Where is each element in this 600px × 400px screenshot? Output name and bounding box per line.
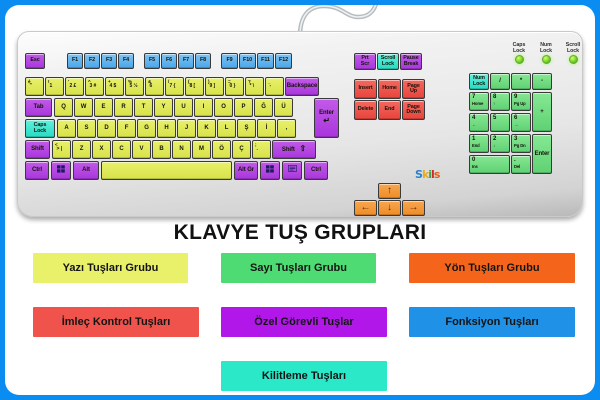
key-z[interactable]: Z bbox=[72, 140, 91, 159]
key-f5-label: F5 bbox=[149, 58, 155, 64]
key-pause-break-label: Pause Break bbox=[403, 56, 418, 67]
key-2-lower: 2 £ bbox=[68, 84, 82, 90]
key-numpad-9-lower: Pg Up bbox=[514, 101, 530, 106]
key-num-lock[interactable]: Num Lock bbox=[469, 73, 489, 90]
key-numpad-1[interactable]: 1End bbox=[469, 134, 489, 153]
key-home[interactable]: Home bbox=[378, 79, 401, 99]
key-arrow-down[interactable]: ↓ bbox=[378, 200, 401, 216]
key-numpad-6-upper: 6 bbox=[514, 115, 530, 122]
key-s-label: S bbox=[85, 125, 89, 131]
key-v[interactable]: V bbox=[132, 140, 151, 159]
key-dash-lower: - bbox=[268, 84, 282, 90]
key-n-label: N bbox=[179, 146, 183, 152]
caps-lock-led: Caps Lock bbox=[507, 43, 531, 64]
key-enter-main[interactable]: Enter↵ bbox=[314, 98, 339, 138]
key-arrow-left[interactable]: ← bbox=[354, 200, 377, 216]
key-i-dot-label: İ bbox=[266, 125, 268, 131]
key-3[interactable]: ^3 # bbox=[85, 77, 104, 96]
key-4[interactable]: +4 $ bbox=[105, 77, 124, 96]
key-numpad-8-lower: ↑ bbox=[493, 101, 509, 106]
key-numpad-divide[interactable]: / bbox=[490, 73, 510, 90]
legend-fonksiyon-label: Fonksiyon Tuşları bbox=[445, 316, 538, 328]
keyboard-keys: EscF1F2F3F4F5F6F7F8F9F10F11F12é"!1'2 £^3… bbox=[17, 31, 583, 217]
key-star-lower: * \ bbox=[248, 84, 262, 90]
key-5-lower: 5 ½ bbox=[128, 84, 142, 90]
key-7[interactable]: /7 { bbox=[165, 77, 184, 96]
key-5[interactable]: %5 ½ bbox=[125, 77, 144, 96]
key-scroll-lock[interactable]: Scroll Lock bbox=[377, 53, 399, 70]
key-caps-lock-label: Caps Lock bbox=[34, 123, 47, 134]
key-angle-lower: > | bbox=[55, 147, 69, 153]
key-f2-label: F2 bbox=[89, 58, 95, 64]
windows-icon bbox=[266, 165, 274, 176]
key-star[interactable]: ?* \ bbox=[245, 77, 264, 96]
key-h[interactable]: H bbox=[157, 119, 176, 138]
key-scroll-lock-label: Scroll Lock bbox=[381, 56, 395, 67]
key-m[interactable]: M bbox=[192, 140, 211, 159]
key-numpad-9[interactable]: 9Pg Up bbox=[511, 92, 531, 111]
key-numpad-4-lower: ← bbox=[472, 122, 488, 127]
key-numpad-1-lower: End bbox=[472, 143, 488, 148]
key-w-label: W bbox=[81, 104, 87, 110]
key-o[interactable]: O bbox=[214, 98, 233, 117]
key-f7[interactable]: F7 bbox=[178, 53, 194, 69]
key-page-down-label: Page Down bbox=[406, 105, 420, 116]
key-enter-main-label: Enter↵ bbox=[319, 110, 334, 125]
key-f-label: F bbox=[125, 125, 129, 131]
key-numpad-0[interactable]: 0Ins bbox=[469, 155, 510, 174]
key-alt-gr[interactable]: Alt Gr bbox=[234, 161, 258, 180]
key-p-label: P bbox=[242, 104, 246, 110]
key-numpad-8[interactable]: 8↑ bbox=[490, 92, 510, 111]
keyboard-illustration: EscF1F2F3F4F5F6F7F8F9F10F11F12é"!1'2 £^3… bbox=[5, 5, 595, 219]
scroll-lock-led: Scroll Lock bbox=[561, 43, 585, 64]
key-arrow-right-label: → bbox=[409, 203, 419, 213]
key-numpad-7[interactable]: 7Home bbox=[469, 92, 489, 111]
key-q-label: Q bbox=[61, 104, 66, 110]
key-numpad-minus-label: - bbox=[541, 78, 543, 84]
key-v-label: V bbox=[140, 146, 144, 152]
key-pause-break[interactable]: Pause Break bbox=[400, 53, 422, 70]
key-j[interactable]: J bbox=[177, 119, 196, 138]
key-numpad-plus[interactable]: + bbox=[532, 92, 552, 132]
key-r-label: R bbox=[121, 104, 125, 110]
key-t[interactable]: T bbox=[134, 98, 153, 117]
key-comma-alt-label: , bbox=[286, 125, 288, 131]
key-arrow-up[interactable]: ↑ bbox=[378, 183, 401, 199]
key-u-umlaut[interactable]: Ü bbox=[274, 98, 293, 117]
key-period[interactable]: ;. bbox=[252, 140, 271, 159]
key-numpad-0-upper: 0 bbox=[472, 157, 509, 164]
page-root: EscF1F2F3F4F5F6F7F8F9F10F11F12é"!1'2 £^3… bbox=[0, 0, 600, 400]
brand-watermark-icon: Skils bbox=[415, 168, 467, 182]
key-b-label: B bbox=[159, 146, 163, 152]
key-tab[interactable]: Tab bbox=[25, 98, 52, 117]
key-shift-left-label: Shift bbox=[31, 146, 44, 152]
page-title: KLAVYE TUŞ GRUPLARI bbox=[5, 221, 595, 245]
legend-yazi[interactable]: Yazı Tuşları Grubu bbox=[33, 253, 188, 283]
key-ctrl-left-label: Ctrl bbox=[32, 167, 42, 173]
key-backspace[interactable]: Backspace bbox=[285, 77, 319, 96]
key-s-cedilla[interactable]: Ş bbox=[237, 119, 256, 138]
key-o-umlaut[interactable]: Ö bbox=[212, 140, 231, 159]
key-end[interactable]: End bbox=[378, 100, 401, 120]
key-esc-label: Esc bbox=[30, 58, 39, 64]
key-f9[interactable]: F9 bbox=[221, 53, 238, 69]
key-8-lower: 8 [ bbox=[188, 84, 202, 90]
key-f10-label: F10 bbox=[243, 58, 252, 64]
key-l-label: L bbox=[225, 125, 229, 131]
legend-group: Yazı Tuşları Grubu Sayı Tuşları Grubu Yö… bbox=[5, 253, 595, 389]
key-numpad-decimal[interactable]: .Del bbox=[511, 155, 531, 174]
key-f7-label: F7 bbox=[183, 58, 189, 64]
key-numpad-9-upper: 9 bbox=[514, 94, 530, 101]
key-o-label: O bbox=[221, 104, 226, 110]
key-p[interactable]: P bbox=[234, 98, 253, 117]
key-numpad-enter[interactable]: Enter bbox=[532, 134, 552, 174]
scroll-lock-led-label: Scroll Lock bbox=[561, 43, 585, 54]
key-z-label: Z bbox=[80, 146, 84, 152]
key-arrow-down-label: ↓ bbox=[387, 203, 392, 213]
legend-imlec-label: İmleç Kontrol Tuşları bbox=[62, 316, 171, 328]
key-page-up[interactable]: Page Up bbox=[402, 79, 425, 99]
key-shift-right-label: Shift ⇧ bbox=[282, 145, 306, 153]
key-e[interactable]: E bbox=[94, 98, 113, 117]
key-f10[interactable]: F10 bbox=[239, 53, 256, 69]
key-h-label: H bbox=[164, 125, 168, 131]
key-numpad-8-upper: 8 bbox=[493, 94, 509, 101]
key-l[interactable]: L bbox=[217, 119, 236, 138]
key-w[interactable]: W bbox=[74, 98, 93, 117]
key-backspace-label: Backspace bbox=[287, 83, 317, 89]
key-8[interactable]: (8 [ bbox=[185, 77, 204, 96]
key-6[interactable]: &6 bbox=[145, 77, 164, 96]
key-windows-left[interactable] bbox=[51, 161, 71, 180]
key-c-cedilla[interactable]: Ç bbox=[232, 140, 251, 159]
key-period-lower: . bbox=[255, 147, 269, 153]
key-a[interactable]: A bbox=[57, 119, 76, 138]
key-s[interactable]: S bbox=[77, 119, 96, 138]
key-e-label: E bbox=[102, 104, 106, 110]
legend-sayi[interactable]: Sayı Tuşları Grubu bbox=[221, 253, 376, 283]
key-g-label: G bbox=[144, 125, 149, 131]
menu-icon bbox=[288, 165, 297, 176]
key-x-label: X bbox=[100, 146, 104, 152]
key-numpad-multiply[interactable]: * bbox=[511, 73, 531, 90]
scroll-lock-led-indicator bbox=[569, 55, 578, 64]
key-f4[interactable]: F4 bbox=[118, 53, 134, 69]
key-f1-label: F1 bbox=[72, 58, 78, 64]
key-j-label: J bbox=[185, 125, 188, 131]
key-numpad-2-upper: 2 bbox=[493, 136, 509, 143]
key-f5[interactable]: F5 bbox=[144, 53, 160, 69]
legend-kilitleme[interactable]: Kilitleme Tuşları bbox=[221, 361, 387, 391]
key-b[interactable]: B bbox=[152, 140, 171, 159]
key-7-lower: 7 { bbox=[168, 84, 182, 90]
key-numpad-divide-label: / bbox=[499, 78, 501, 84]
key-numpad-enter-label: Enter bbox=[535, 151, 550, 157]
key-shift-right[interactable]: Shift ⇧ bbox=[272, 140, 316, 159]
info-card: EscF1F2F3F4F5F6F7F8F9F10F11F12é"!1'2 £^3… bbox=[5, 5, 595, 395]
caps-lock-led-label: Caps Lock bbox=[507, 43, 531, 54]
key-x[interactable]: X bbox=[92, 140, 111, 159]
key-u[interactable]: U bbox=[174, 98, 193, 117]
key-ctrl-left[interactable]: Ctrl bbox=[25, 161, 49, 180]
key-k[interactable]: K bbox=[197, 119, 216, 138]
key-m-label: M bbox=[199, 146, 204, 152]
num-lock-led: Num Lock bbox=[534, 43, 558, 64]
key-k-label: K bbox=[204, 125, 208, 131]
key-home-label: Home bbox=[382, 86, 397, 92]
key-9-lower: 9 ] bbox=[208, 84, 222, 90]
caps-lock-led-indicator bbox=[515, 55, 524, 64]
key-f6-label: F6 bbox=[166, 58, 172, 64]
key-g[interactable]: G bbox=[137, 119, 156, 138]
legend-fonksiyon[interactable]: Fonksiyon Tuşları bbox=[409, 307, 575, 337]
legend-ozel-label: Özel Görevli Tuşlar bbox=[254, 316, 353, 328]
key-f12[interactable]: F12 bbox=[275, 53, 292, 69]
key-arrow-right[interactable]: → bbox=[402, 200, 425, 216]
key-end-label: End bbox=[385, 107, 395, 113]
key-9[interactable]: )9 ] bbox=[205, 77, 224, 96]
key-delete-label: Delete bbox=[358, 107, 374, 113]
key-f1[interactable]: F1 bbox=[67, 53, 83, 69]
key-dash[interactable]: _- bbox=[265, 77, 284, 96]
key-4-lower: 4 $ bbox=[108, 84, 122, 90]
key-u-umlaut-label: Ü bbox=[281, 104, 285, 110]
key-numpad-1-upper: 1 bbox=[472, 136, 488, 143]
key-numpad-plus-label: + bbox=[540, 109, 543, 115]
key-numpad-4[interactable]: 4← bbox=[469, 113, 489, 132]
key-y[interactable]: Y bbox=[154, 98, 173, 117]
legend-yazi-label: Yazı Tuşları Grubu bbox=[63, 262, 159, 274]
key-alt-left[interactable]: Alt bbox=[73, 161, 99, 180]
num-lock-led-label: Num Lock bbox=[534, 43, 558, 54]
legend-yon-label: Yön Tuşları Grubu bbox=[444, 262, 539, 274]
legend-ozel[interactable]: Özel Görevli Tuşlar bbox=[221, 307, 387, 337]
key-g-breve[interactable]: Ğ bbox=[254, 98, 273, 117]
key-3-lower: 3 # bbox=[88, 84, 102, 90]
key-numpad-minus[interactable]: - bbox=[532, 73, 552, 90]
key-0[interactable]: =0 } bbox=[225, 77, 244, 96]
key-numpad-7-lower: Home bbox=[472, 101, 488, 106]
key-d[interactable]: D bbox=[97, 119, 116, 138]
key-s-cedilla-label: Ş bbox=[245, 125, 249, 131]
key-f12-label: F12 bbox=[279, 58, 288, 64]
windows-icon bbox=[57, 165, 65, 176]
key-numpad-decimal-lower: Del bbox=[514, 164, 530, 169]
legend-yon[interactable]: Yön Tuşları Grubu bbox=[409, 253, 575, 283]
key-1-lower: 1 bbox=[48, 84, 62, 90]
key-f4-label: F4 bbox=[123, 58, 129, 64]
key-numpad-0-lower: Ins bbox=[472, 164, 509, 169]
key-0-lower: 0 } bbox=[228, 84, 242, 90]
key-ctrl-right-label: Ctrl bbox=[311, 167, 321, 173]
key-ctrl-right[interactable]: Ctrl bbox=[304, 161, 328, 180]
key-numpad-4-upper: 4 bbox=[472, 115, 488, 122]
key-f9-label: F9 bbox=[226, 58, 232, 64]
key-menu[interactable] bbox=[282, 161, 302, 180]
key-print-screen-label: Prt Scr bbox=[361, 56, 369, 67]
key-numpad-multiply-label: * bbox=[520, 78, 522, 84]
key-c[interactable]: C bbox=[112, 140, 131, 159]
key-f3[interactable]: F3 bbox=[101, 53, 117, 69]
key-c-cedilla-label: Ç bbox=[239, 146, 243, 152]
legend-imlec[interactable]: İmleç Kontrol Tuşları bbox=[33, 307, 199, 337]
key-numpad-5[interactable]: 5 bbox=[490, 113, 510, 132]
key-numpad-3-upper: 3 bbox=[514, 136, 530, 143]
key-quote-lower: " bbox=[28, 84, 42, 90]
key-numpad-7-upper: 7 bbox=[472, 94, 488, 101]
key-q[interactable]: Q bbox=[54, 98, 73, 117]
key-f3-label: F3 bbox=[106, 58, 112, 64]
key-c-label: C bbox=[119, 146, 123, 152]
num-lock-led-indicator bbox=[542, 55, 551, 64]
key-comma-alt[interactable]: , bbox=[277, 119, 296, 138]
key-esc[interactable]: Esc bbox=[25, 53, 45, 69]
key-t-label: T bbox=[142, 104, 146, 110]
key-tab-label: Tab bbox=[34, 104, 44, 110]
key-1[interactable]: !1 bbox=[45, 77, 64, 96]
key-print-screen[interactable]: Prt Scr bbox=[354, 53, 376, 70]
key-numpad-2-lower: ↓ bbox=[493, 143, 509, 148]
key-insert-label: Insert bbox=[358, 86, 372, 92]
key-page-up-label: Page Up bbox=[407, 84, 420, 95]
key-numpad-decimal-upper: . bbox=[514, 157, 530, 164]
key-r[interactable]: R bbox=[114, 98, 133, 117]
key-f11-label: F11 bbox=[261, 58, 270, 64]
key-arrow-left-label: ← bbox=[361, 203, 371, 213]
key-u-label: U bbox=[181, 104, 185, 110]
key-caps-lock[interactable]: Caps Lock bbox=[25, 119, 55, 138]
key-windows-right[interactable] bbox=[260, 161, 280, 180]
key-o-umlaut-label: Ö bbox=[219, 146, 224, 152]
key-alt-gr-label: Alt Gr bbox=[238, 167, 254, 173]
key-quote[interactable]: é" bbox=[25, 77, 44, 96]
key-d-label: D bbox=[104, 125, 108, 131]
key-num-lock-label: Num Lock bbox=[473, 76, 485, 87]
key-delete[interactable]: Delete bbox=[354, 100, 377, 120]
key-n[interactable]: N bbox=[172, 140, 191, 159]
key-f6[interactable]: F6 bbox=[161, 53, 177, 69]
key-numpad-5-upper: 5 bbox=[493, 115, 509, 122]
key-numpad-2[interactable]: 2↓ bbox=[490, 134, 510, 153]
key-numpad-6[interactable]: 6→ bbox=[511, 113, 531, 132]
key-f8-label: F8 bbox=[200, 58, 206, 64]
key-numpad-6-lower: → bbox=[514, 122, 530, 127]
key-insert[interactable]: Insert bbox=[354, 79, 377, 99]
legend-sayi-label: Sayı Tuşları Grubu bbox=[250, 262, 347, 274]
key-page-down[interactable]: Page Down bbox=[402, 100, 425, 120]
key-y-label: Y bbox=[162, 104, 166, 110]
key-i-label: I bbox=[203, 104, 205, 110]
key-6-lower: 6 bbox=[148, 84, 162, 90]
legend-kilitleme-label: Kilitleme Tuşları bbox=[262, 370, 346, 382]
key-f11[interactable]: F11 bbox=[257, 53, 274, 69]
key-f2[interactable]: F2 bbox=[84, 53, 100, 69]
key-i[interactable]: I bbox=[194, 98, 213, 117]
key-g-breve-label: Ğ bbox=[261, 104, 266, 110]
key-f[interactable]: F bbox=[117, 119, 136, 138]
key-2[interactable]: '2 £ bbox=[65, 77, 84, 96]
key-numpad-3[interactable]: 3Pg Dn bbox=[511, 134, 531, 153]
key-angle[interactable]: <> | bbox=[52, 140, 71, 159]
key-shift-left[interactable]: Shift bbox=[25, 140, 50, 159]
key-arrow-up-label: ↑ bbox=[387, 186, 392, 196]
key-numpad-3-lower: Pg Dn bbox=[514, 143, 530, 148]
key-a-label: A bbox=[64, 125, 68, 131]
key-alt-left-label: Alt bbox=[82, 167, 90, 173]
key-i-dot[interactable]: İ bbox=[257, 119, 276, 138]
key-f8[interactable]: F8 bbox=[195, 53, 211, 69]
key-space[interactable] bbox=[101, 161, 232, 180]
